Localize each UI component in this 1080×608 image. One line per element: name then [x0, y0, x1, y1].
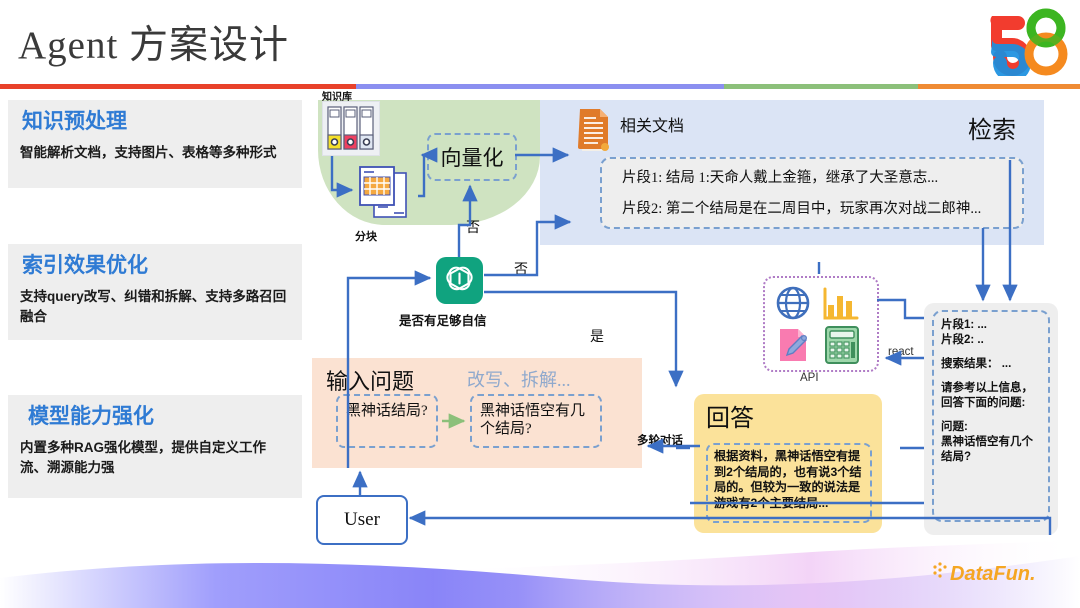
divider-segment-orange	[918, 84, 1080, 89]
vectorize-node[interactable]: 向量化	[427, 133, 517, 181]
edge-label-multi-turn: 多轮对话	[637, 432, 683, 448]
prompt-line-search-results: 搜索结果： ...	[941, 357, 1041, 372]
calculator-icon	[822, 324, 862, 371]
feature-card-index-optimization: 索引效果优化 支持query改写、纠错和拆解、支持多路召回融合	[8, 244, 302, 340]
feature-card-heading: 知识预处理	[22, 110, 290, 133]
prompt-text-box: 片段1: ... 片段2: .. 搜索结果： ... 请参考以上信息， 回答下面…	[932, 310, 1050, 522]
chunk-document-icon	[356, 165, 416, 230]
feature-card-knowledge-preprocessing: 知识预处理 智能解析文档，支持图片、表格等多种形式	[8, 100, 302, 188]
divider-segment-red	[0, 84, 356, 89]
binders-icon	[322, 101, 380, 156]
confidence-check-label: 是否有足够自信	[399, 310, 487, 329]
document-edit-icon	[774, 325, 814, 370]
edge-label-yes: 是	[590, 326, 604, 346]
prompt-line-question-label: 问题:	[941, 420, 1041, 435]
feature-card-heading: 索引效果优化	[22, 254, 290, 277]
document-icon	[574, 106, 616, 159]
feature-card-body: 支持query改写、纠错和拆解、支持多路召回融合	[20, 287, 290, 326]
related-documents-label: 相关文档	[620, 112, 684, 136]
feature-card-heading: 模型能力强化	[28, 405, 290, 428]
bar-chart-icon	[822, 285, 862, 328]
edge-label-react: react	[888, 346, 914, 358]
edge-label-no-mid: 否	[514, 259, 528, 279]
prompt-line-snippet1: 片段1: ...	[941, 318, 1041, 333]
feature-card-model-enhancement: 模型能力强化 内置多种RAG强化模型，提供自定义工作流、溯源能力强	[8, 395, 302, 498]
page-title: Agent 方案设计	[18, 14, 289, 70]
input-question-heading: 输入问题	[326, 364, 414, 396]
divider-segment-blue	[356, 84, 723, 89]
api-label: API	[800, 372, 819, 384]
datafun-logo: DataFun.	[930, 560, 1066, 586]
divider-segment-green	[724, 84, 918, 89]
answer-text-box: 根据资料，黑神话悟空有提到2个结局的，也有说3个结局的。但较为一致的说法是游戏有…	[706, 443, 872, 523]
user-label: User	[344, 509, 380, 531]
answer-heading: 回答	[706, 398, 754, 433]
edge-label-no-top: 否	[466, 217, 480, 237]
retrieval-panel-title: 检索	[968, 110, 1016, 145]
globe-icon	[773, 283, 813, 328]
58-logo	[974, 6, 1070, 76]
slide-canvas: Agent 方案设计 知识预处理 智能解析文档，支持图片、表格等多种形式 索引效…	[0, 0, 1080, 608]
prompt-line-instruction-2: 回答下面的问题:	[941, 396, 1041, 411]
snippet-item: 片段1: 结局 1:天命人戴上金箍，继承了大圣意志...	[622, 171, 1010, 186]
chunk-label: 分块	[355, 228, 377, 244]
prompt-line-instruction-1: 请参考以上信息，	[941, 381, 1041, 396]
header-divider	[0, 84, 1080, 89]
svg-text:DataFun.: DataFun.	[950, 563, 1036, 585]
rewritten-question-box[interactable]: 黑神话悟空有几个结局?	[470, 394, 602, 448]
rewrite-heading: 改写、拆解...	[467, 366, 571, 392]
vectorize-label: 向量化	[441, 142, 504, 172]
retrieved-snippets-box: 片段1: 结局 1:天命人戴上金箍，继承了大圣意志... 片段2: 第二个结局是…	[600, 157, 1024, 229]
original-question-box[interactable]: 黑神话结局?	[336, 394, 438, 448]
prompt-line-question-2: 结局?	[941, 450, 1041, 465]
snippet-item: 片段2: 第二个结局是在二周目中，玩家再次对战二郎神...	[622, 202, 1010, 217]
decorative-wave	[0, 538, 1080, 608]
prompt-line-question-1: 黑神话悟空有几个	[941, 435, 1041, 450]
prompt-line-snippet2: 片段2: ..	[941, 333, 1041, 348]
openai-icon[interactable]	[436, 257, 483, 304]
feature-card-body: 内置多种RAG强化模型，提供自定义工作流、溯源能力强	[20, 438, 290, 477]
feature-card-body: 智能解析文档，支持图片、表格等多种形式	[20, 143, 290, 163]
